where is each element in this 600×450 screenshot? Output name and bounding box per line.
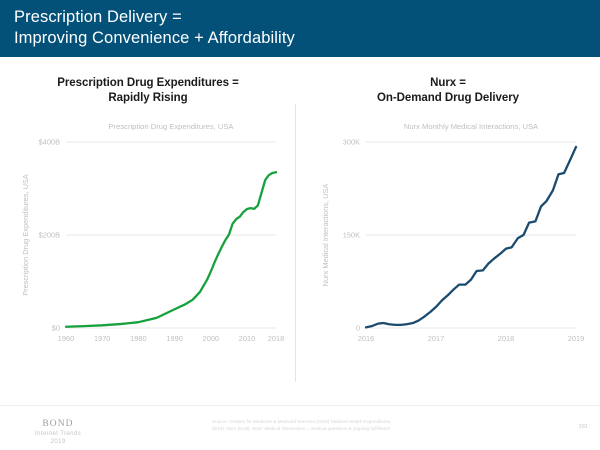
source-note: Source: Centers for Medicare & Medicaid … [212,419,532,432]
nurx-monthly-medical-interactions-chart: Nurx Monthly Medical Interactions, USA01… [312,120,584,370]
right-panel-title-line2: On-Demand Drug Delivery [296,91,600,106]
svg-text:Prescription Drug Expenditures: Prescription Drug Expenditures, USA [109,122,235,131]
svg-text:2018: 2018 [268,334,284,343]
header-title-line2: Improving Convenience + Affordability [14,28,600,49]
source-note-line1: Source: Centers for Medicare & Medicaid … [212,419,532,426]
svg-text:Prescription Drug Expenditures: Prescription Drug Expenditures, USA [21,174,30,296]
right-chart-panel: Nurx = On-Demand Drug Delivery Nurx Mont… [296,57,600,387]
bond-logo-name: BOND [18,419,98,429]
left-chart-panel: Prescription Drug Expenditures = Rapidly… [0,57,296,387]
left-panel-title-line2: Rapidly Rising [0,91,296,106]
svg-text:2016: 2016 [358,334,374,343]
slide: Prescription Delivery = Improving Conven… [0,0,600,450]
bond-logo: BOND Internet Trends 2019 [18,419,98,445]
footer-divider [0,405,600,406]
svg-text:$200B: $200B [39,231,60,240]
left-panel-title: Prescription Drug Expenditures = Rapidly… [0,76,296,106]
svg-text:$400B: $400B [39,138,60,147]
left-panel-title-line1: Prescription Drug Expenditures = [0,76,296,91]
bond-logo-subtitle: Internet Trends [18,430,98,437]
svg-text:1980: 1980 [130,334,146,343]
svg-text:2010: 2010 [239,334,255,343]
svg-text:300K: 300K [343,138,360,147]
svg-text:Nurx Monthly Medical Interacti: Nurx Monthly Medical Interactions, USA [404,122,539,131]
left-chart-container: Prescription Drug Expenditures, USA$0$20… [0,120,296,370]
svg-text:2018: 2018 [498,334,514,343]
right-panel-title-line1: Nurx = [296,76,600,91]
slide-header: Prescription Delivery = Improving Conven… [0,0,600,57]
svg-text:1970: 1970 [94,334,110,343]
svg-text:1990: 1990 [166,334,182,343]
prescription-drug-expenditures-chart: Prescription Drug Expenditures, USA$0$20… [12,120,284,370]
svg-text:150K: 150K [343,231,360,240]
source-note-line2: (5/19). Nurx (5/19). Note: Medical Inter… [212,426,532,433]
page-number: 281 [579,424,588,430]
right-chart-container: Nurx Monthly Medical Interactions, USA01… [296,120,600,370]
svg-text:0: 0 [356,324,360,333]
svg-text:Nurx Medical Interactions, USA: Nurx Medical Interactions, USA [321,184,330,287]
right-panel-title: Nurx = On-Demand Drug Delivery [296,76,600,106]
svg-text:1960: 1960 [58,334,74,343]
bond-logo-year: 2019 [18,438,98,445]
svg-text:$0: $0 [52,324,60,333]
svg-text:2017: 2017 [428,334,444,343]
header-title-line1: Prescription Delivery = [14,7,600,28]
svg-text:2000: 2000 [203,334,219,343]
svg-text:2019: 2019 [568,334,584,343]
